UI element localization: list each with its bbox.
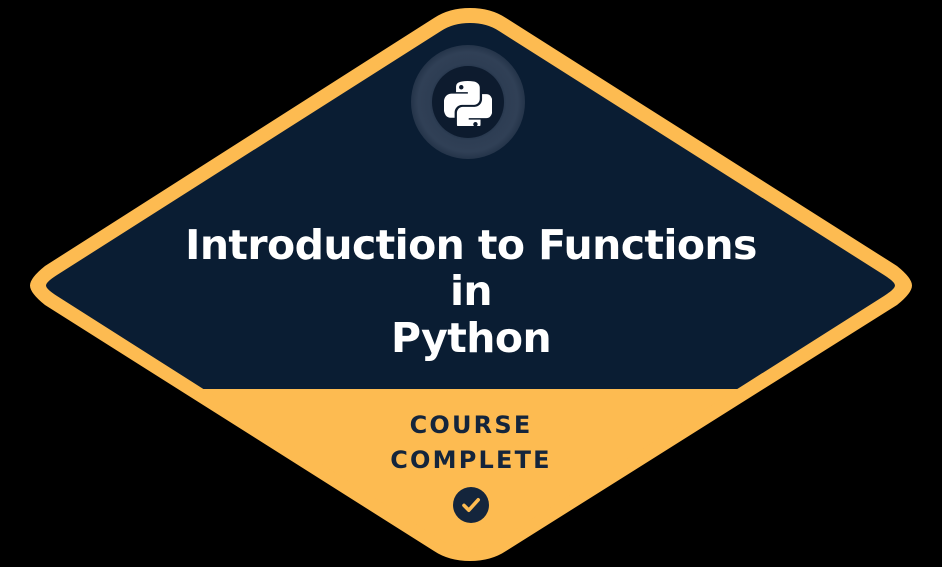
badge-shape-graphic <box>0 0 942 567</box>
certificate-badge: Introduction to Functions in Python COUR… <box>0 0 942 567</box>
panel-accent-lower <box>0 389 942 567</box>
panel-dark-upper <box>0 0 942 389</box>
badge-inner-panel <box>0 0 942 567</box>
